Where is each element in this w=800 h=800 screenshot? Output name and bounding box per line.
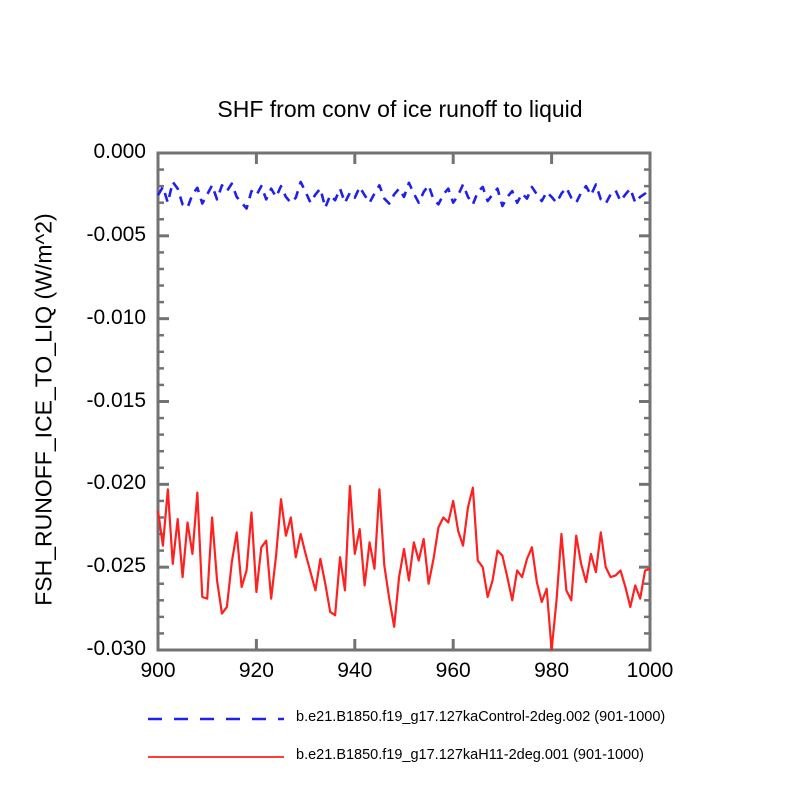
series-line-1 bbox=[158, 486, 650, 650]
data-series-group bbox=[158, 182, 650, 650]
y-tick-label: -0.020 bbox=[86, 471, 146, 495]
y-tick-label: -0.010 bbox=[86, 306, 146, 330]
y-tick-label: 0.000 bbox=[93, 140, 146, 164]
axis-ticks bbox=[158, 153, 650, 650]
x-tick-label: 1000 bbox=[600, 659, 700, 683]
plot-border bbox=[158, 153, 650, 650]
y-tick-label: -0.025 bbox=[86, 554, 146, 578]
x-tick-label: 960 bbox=[403, 659, 503, 683]
chart-figure: SHF from conv of ice runoff to liquid FS… bbox=[0, 0, 800, 800]
x-tick-label: 900 bbox=[108, 659, 208, 683]
legend-sample-lines bbox=[148, 719, 284, 757]
plot-frame bbox=[158, 153, 650, 650]
y-tick-label: -0.015 bbox=[86, 389, 146, 413]
x-tick-label: 920 bbox=[206, 659, 306, 683]
x-tick-label: 940 bbox=[305, 659, 405, 683]
x-tick-label: 980 bbox=[502, 659, 602, 683]
y-tick-label: -0.005 bbox=[86, 223, 146, 247]
series-line-0 bbox=[158, 182, 650, 209]
legend-label-0: b.e21.B1850.f19_g17.127kaControl-2deg.00… bbox=[296, 709, 665, 725]
y-tick-label: -0.030 bbox=[86, 637, 146, 661]
legend-label-1: b.e21.B1850.f19_g17.127kaH11-2deg.001 (9… bbox=[296, 747, 644, 763]
